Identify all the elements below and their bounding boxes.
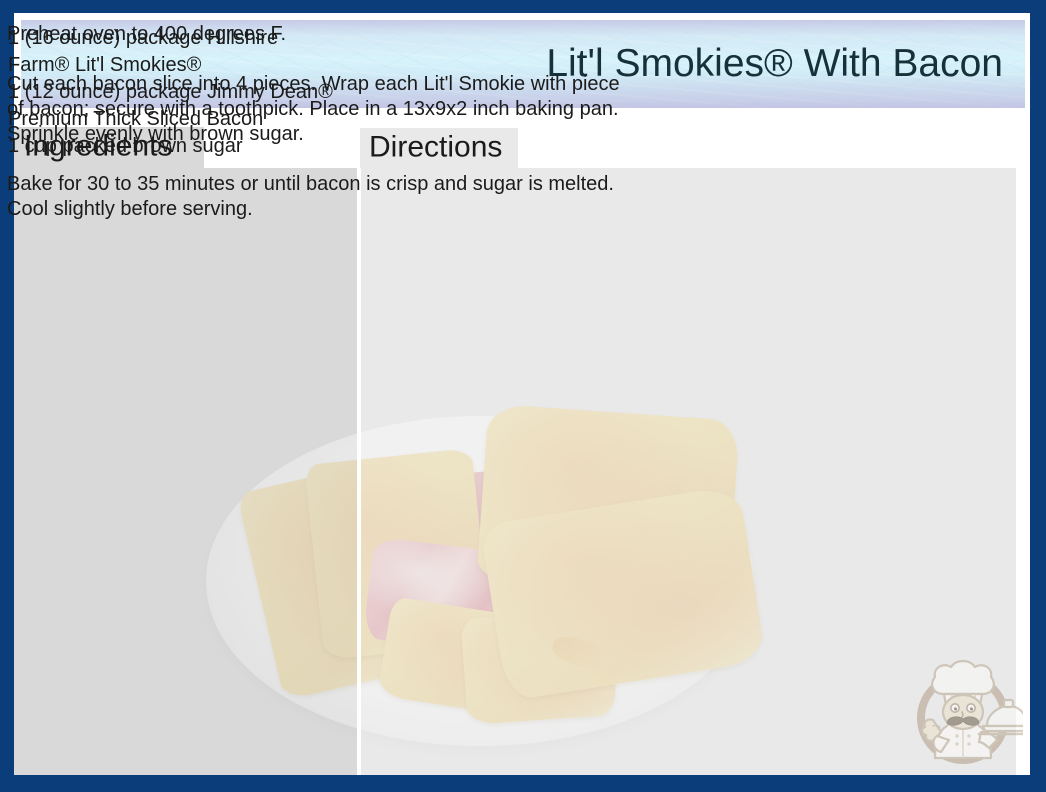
direction-step: Bake for 30 to 35 minutes or until bacon… [7, 172, 629, 222]
directions-panel [360, 168, 1016, 775]
frame-border-top [0, 0, 1046, 13]
frame-border-right [1030, 0, 1046, 792]
recipe-card: Lit'l Smokies® With Bacon Ingredients 1 … [0, 0, 1046, 792]
ingredients-panel [14, 167, 357, 775]
frame-border-bottom [0, 775, 1046, 792]
directions-list: Preheat oven to 400 degrees F. Cut each … [7, 22, 629, 222]
column-divider [357, 167, 361, 775]
direction-step: Preheat oven to 400 degrees F. [7, 22, 629, 47]
direction-step: Cut each bacon slice into 4 pieces. Wrap… [7, 72, 629, 147]
